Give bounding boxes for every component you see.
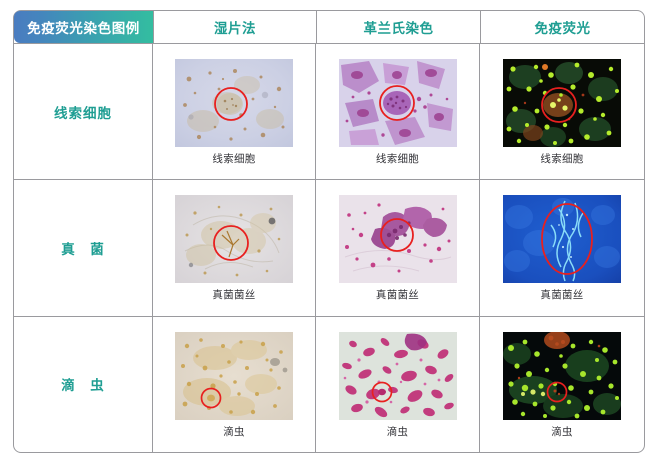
row-label-cell-fungus: 真 菌: [14, 180, 153, 315]
micrograph-clue-cell-wet-mount: [175, 59, 293, 147]
legend-table: 免疫荧光染色图例 湿片法 革兰氏染色 免疫荧光 线索细胞: [13, 10, 645, 453]
row-label-trichomonas: 滴 虫: [61, 374, 105, 394]
table-row-clue-cell: 线索细胞: [14, 44, 644, 180]
column-header-gram-stain-label: 革兰氏染色: [364, 17, 434, 37]
caption-fungus-immunofluorescence: 真菌菌丝: [540, 290, 583, 301]
table-row-trichomonas: 滴 虫: [14, 317, 644, 452]
cell-clue-cell-immunofluorescence: 线索细胞: [480, 44, 644, 179]
cell-trichomonas-wet-mount: 滴虫: [153, 317, 316, 452]
micrograph-clue-cell-immunofluorescence: [503, 59, 621, 147]
micrograph-fungus-immunofluorescence: [503, 195, 621, 283]
column-header-immunofluorescence-label: 免疫荧光: [535, 17, 591, 37]
cell-fungus-immunofluorescence: 真菌菌丝: [480, 180, 644, 315]
micrograph-fungus-gram-stain: [339, 195, 457, 283]
legend-title-badge: 免疫荧光染色图例: [14, 11, 153, 43]
row-label-fungus: 真 菌: [61, 238, 105, 258]
table-header-row: 免疫荧光染色图例 湿片法 革兰氏染色 免疫荧光: [14, 11, 644, 44]
row-label-clue-cell: 线索细胞: [54, 102, 112, 122]
caption-trichomonas-gram-stain: 滴虫: [387, 427, 409, 438]
caption-clue-cell-wet-mount: 线索细胞: [212, 154, 255, 165]
column-header-wet-mount: 湿片法: [154, 11, 317, 43]
column-header-gram-stain: 革兰氏染色: [317, 11, 481, 43]
caption-fungus-gram-stain: 真菌菌丝: [376, 290, 419, 301]
caption-fungus-wet-mount: 真菌菌丝: [212, 290, 255, 301]
page-root: 免疫荧光染色图例 湿片法 革兰氏染色 免疫荧光 线索细胞: [0, 0, 657, 467]
micrograph-trichomonas-gram-stain: [339, 332, 457, 420]
micrograph-clue-cell-gram-stain: [339, 59, 457, 147]
cell-trichomonas-immunofluorescence: 滴虫: [480, 317, 644, 452]
cell-clue-cell-gram-stain: 线索细胞: [316, 44, 480, 179]
legend-title-text: 免疫荧光染色图例: [27, 17, 140, 37]
legend-title-cell: 免疫荧光染色图例: [14, 11, 154, 43]
table-row-fungus: 真 菌: [14, 180, 644, 316]
caption-trichomonas-wet-mount: 滴虫: [223, 427, 245, 438]
caption-trichomonas-immunofluorescence: 滴虫: [551, 427, 573, 438]
row-label-cell-trichomonas: 滴 虫: [14, 317, 153, 452]
micrograph-trichomonas-wet-mount: [175, 332, 293, 420]
column-header-immunofluorescence: 免疫荧光: [481, 11, 644, 43]
caption-clue-cell-immunofluorescence: 线索细胞: [540, 154, 583, 165]
caption-clue-cell-gram-stain: 线索细胞: [376, 154, 419, 165]
cell-fungus-wet-mount: 真菌菌丝: [153, 180, 316, 315]
cell-trichomonas-gram-stain: 滴虫: [316, 317, 480, 452]
cell-fungus-gram-stain: 真菌菌丝: [316, 180, 480, 315]
micrograph-trichomonas-immunofluorescence: [503, 332, 621, 420]
cell-clue-cell-wet-mount: 线索细胞: [153, 44, 316, 179]
row-label-cell-clue-cell: 线索细胞: [14, 44, 153, 179]
micrograph-fungus-wet-mount: [175, 195, 293, 283]
column-header-wet-mount-label: 湿片法: [214, 17, 256, 37]
